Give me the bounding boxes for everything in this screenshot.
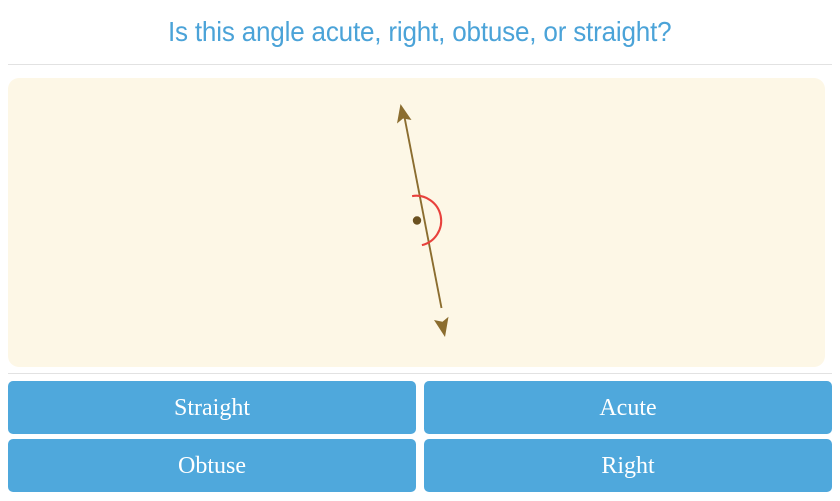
arrowhead-bottom-icon xyxy=(434,317,449,337)
angle-ray-line xyxy=(404,112,442,308)
page-title: Is this angle acute, right, obtuse, or s… xyxy=(168,17,671,48)
answer-label-acute: Acute xyxy=(599,396,656,420)
answer-button-right[interactable]: Right xyxy=(424,439,832,492)
answer-label-right: Right xyxy=(601,454,654,478)
angle-diagram-card xyxy=(8,78,825,367)
angle-figure xyxy=(8,78,825,367)
vertex-point xyxy=(413,216,421,224)
answer-button-obtuse[interactable]: Obtuse xyxy=(8,439,416,492)
question-header: Is this angle acute, right, obtuse, or s… xyxy=(0,0,840,64)
answer-button-acute[interactable]: Acute xyxy=(424,381,832,434)
answer-label-obtuse: Obtuse xyxy=(178,454,246,478)
answer-options-grid: Straight Acute Obtuse Right xyxy=(8,381,832,492)
answer-label-straight: Straight xyxy=(174,396,250,420)
answer-button-straight[interactable]: Straight xyxy=(8,381,416,434)
quiz-page: Is this angle acute, right, obtuse, or s… xyxy=(0,0,840,501)
divider-bottom xyxy=(8,373,832,374)
divider-top xyxy=(8,64,832,65)
